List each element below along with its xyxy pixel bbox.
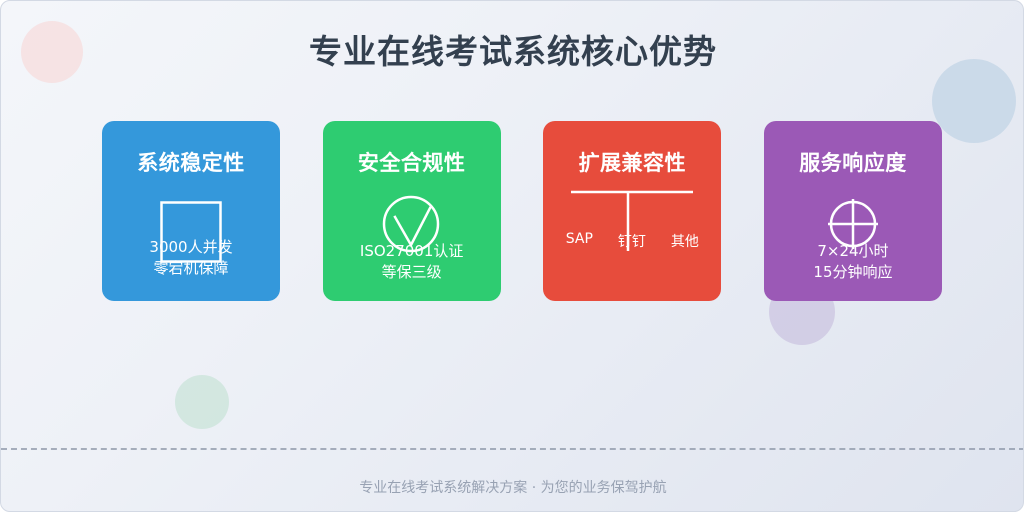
feature-card-line1: 7×24小时 (764, 241, 942, 262)
infographic-canvas: 专业在线考试系统核心优势 系统稳定性 3000人并发 零宕机保障 安全合规性 (0, 0, 1024, 512)
feature-card-response[interactable]: 服务响应度 7×24小时 15分钟响应 (764, 121, 942, 301)
feature-card-list: 系统稳定性 3000人并发 零宕机保障 安全合规性 ISO27001认证 (102, 121, 942, 301)
green-circle (175, 375, 229, 429)
feature-card-title: 扩展兼容性 (543, 147, 721, 177)
feature-card-title: 服务响应度 (764, 147, 942, 177)
feature-card-line1: 3000人并发 (102, 237, 280, 258)
page-title: 专业在线考试系统核心优势 (1, 25, 1024, 73)
compat-label-sap: SAP (566, 231, 593, 251)
feature-card-compatibility[interactable]: 扩展兼容性 SAP 钉钉 其他 (543, 121, 721, 301)
feature-card-detail: ISO27001认证 等保三级 (323, 241, 501, 283)
feature-card-title: 安全合规性 (323, 147, 501, 177)
feature-card-line2: 零宕机保障 (102, 258, 280, 279)
feature-card-line2: 等保三级 (323, 262, 501, 283)
feature-card-stability[interactable]: 系统稳定性 3000人并发 零宕机保障 (102, 121, 280, 301)
compat-label-other: 其他 (671, 231, 699, 251)
footer-tagline: 专业在线考试系统解决方案 · 为您的业务保驾护航 (1, 477, 1024, 497)
feature-card-detail: 7×24小时 15分钟响应 (764, 241, 942, 283)
feature-card-line2: 15分钟响应 (764, 262, 942, 283)
compatibility-labels: SAP 钉钉 其他 (543, 231, 721, 251)
dashed-divider (1, 448, 1024, 450)
feature-card-detail: 3000人并发 零宕机保障 (102, 237, 280, 279)
feature-card-line1: ISO27001认证 (323, 241, 501, 262)
feature-card-security[interactable]: 安全合规性 ISO27001认证 等保三级 (323, 121, 501, 301)
feature-card-title: 系统稳定性 (102, 147, 280, 177)
compat-label-dingtalk: 钉钉 (618, 231, 646, 251)
